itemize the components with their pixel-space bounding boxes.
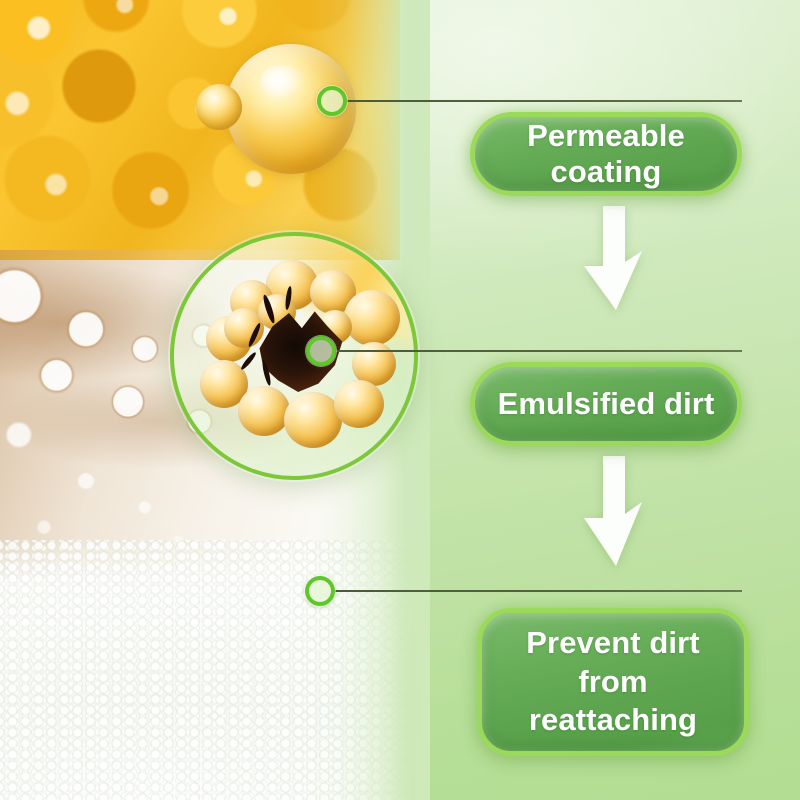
step-pill-prevent-dirt-from-reattaching[interactable]: Prevent dirt from reattaching xyxy=(477,608,749,756)
arrow-down-icon-1 xyxy=(576,206,650,310)
step-pill-permeable-coating[interactable]: Permeable coating xyxy=(470,112,742,196)
step-label-2: Emulsified dirt xyxy=(488,386,725,422)
step-label-1: Permeable coating xyxy=(475,118,737,190)
marker-step-3[interactable] xyxy=(305,576,335,606)
step-label-3: Prevent dirt from reattaching xyxy=(482,624,744,740)
connector-line-step-1 xyxy=(347,100,742,102)
marker-step-1[interactable] xyxy=(317,86,347,116)
infographic-canvas: Permeable coating Emulsified dirt Preven… xyxy=(0,0,800,800)
connector-line-step-2 xyxy=(336,350,742,352)
step-label-3-line-2: from reattaching xyxy=(529,664,697,738)
step-label-3-line-1: Prevent dirt xyxy=(526,625,699,660)
micelle-cluster xyxy=(202,264,394,456)
arrow-down-icon-2 xyxy=(576,456,650,566)
white-micro-foam xyxy=(0,540,410,800)
connector-line-step-3 xyxy=(335,590,742,592)
marker-step-2[interactable] xyxy=(306,336,336,366)
micelle-magnifier xyxy=(170,232,418,480)
step-pill-emulsified-dirt[interactable]: Emulsified dirt xyxy=(470,362,742,446)
small-oil-droplet xyxy=(196,84,242,130)
